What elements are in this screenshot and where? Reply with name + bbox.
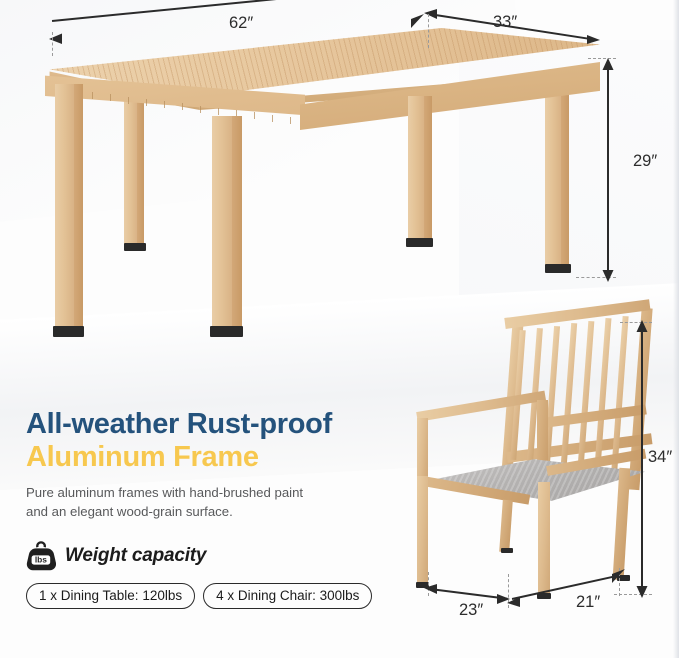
headline-primary: All-weather Rust-proof: [26, 408, 426, 440]
dimension-label-table-length: 62″: [229, 14, 253, 33]
weight-lbs-icon: lbs: [26, 540, 56, 572]
chair-back-top-rail: [504, 299, 650, 329]
headline-accent: Aluminum Frame: [26, 441, 426, 473]
chair-leg-back-right: [613, 468, 631, 580]
weight-capacity-title: Weight capacity: [65, 545, 206, 567]
dimension-line-table-height: [607, 62, 609, 278]
weight-capacity-pill-chair: 4 x Dining Chair: 300lbs: [203, 583, 372, 609]
weight-capacity-block: lbs Weight capacity 1 x Dining Table: 12…: [26, 540, 446, 609]
dimension-guide-table-apex: [428, 14, 429, 48]
table-leg-center-front: [212, 116, 242, 334]
leg-side: [232, 116, 242, 334]
chair-armrest-left: [416, 391, 546, 422]
dimension-arrow-chair-height-top: [634, 320, 652, 336]
dimension-line-chair-height: [641, 325, 643, 593]
weight-capacity-pill-table: 1 x Dining Table: 120lbs: [26, 583, 195, 609]
table-leg-front-right: [408, 96, 432, 244]
table-foot-back-left: [124, 243, 146, 251]
dimension-arrow-chair-depth-left: [507, 591, 525, 609]
dimension-label-chair-width: 23″: [459, 601, 483, 620]
dimension-label-chair-height: 34″: [648, 448, 672, 467]
table-foot-center-front: [210, 326, 243, 337]
dimension-arrow-table-height-top: [600, 58, 618, 74]
dimension-arrow-chair-height-bottom: [634, 584, 652, 600]
table-foot-front-left: [53, 326, 84, 337]
dimension-guide-table-left: [52, 32, 53, 56]
leg-side: [74, 84, 83, 334]
weight-icon-text: lbs: [35, 555, 47, 565]
dimension-arrow-table-width-right: [586, 30, 604, 48]
dimension-label-table-height: 29″: [633, 152, 657, 171]
infographic-canvas: 62″ 33″ 29″: [0, 0, 679, 658]
right-edge-shade: [673, 0, 679, 658]
dimension-label-table-width: 33″: [493, 13, 517, 32]
feature-description: Pure aluminum frames with hand-brushed p…: [26, 483, 318, 521]
table-leg-front-left: [55, 84, 83, 334]
dimension-label-chair-depth: 21″: [576, 593, 600, 612]
weight-capacity-heading-row: lbs Weight capacity: [26, 540, 446, 572]
leg-side: [424, 96, 432, 244]
chair-armrest-right: [542, 404, 646, 427]
dimension-arrow-table-width-left: [424, 8, 442, 26]
chair-foot-front-right: [537, 593, 551, 599]
chair-foot-front-center: [501, 548, 513, 553]
chair-leg-front-right: [538, 482, 550, 598]
table-foot-back-right: [545, 264, 571, 273]
chair-leg-front-center: [499, 500, 513, 553]
table-foot-front-right: [406, 238, 433, 247]
table-apron-notch-detail: [52, 78, 302, 126]
weight-capacity-pill-list: 1 x Dining Table: 120lbs 4 x Dining Chai…: [26, 583, 446, 609]
dimension-arrow-chair-depth-right: [610, 568, 628, 586]
dimension-arrow-table-height-bottom: [600, 268, 618, 284]
feature-copy-block: All-weather Rust-proof Aluminum Frame Pu…: [26, 408, 426, 521]
